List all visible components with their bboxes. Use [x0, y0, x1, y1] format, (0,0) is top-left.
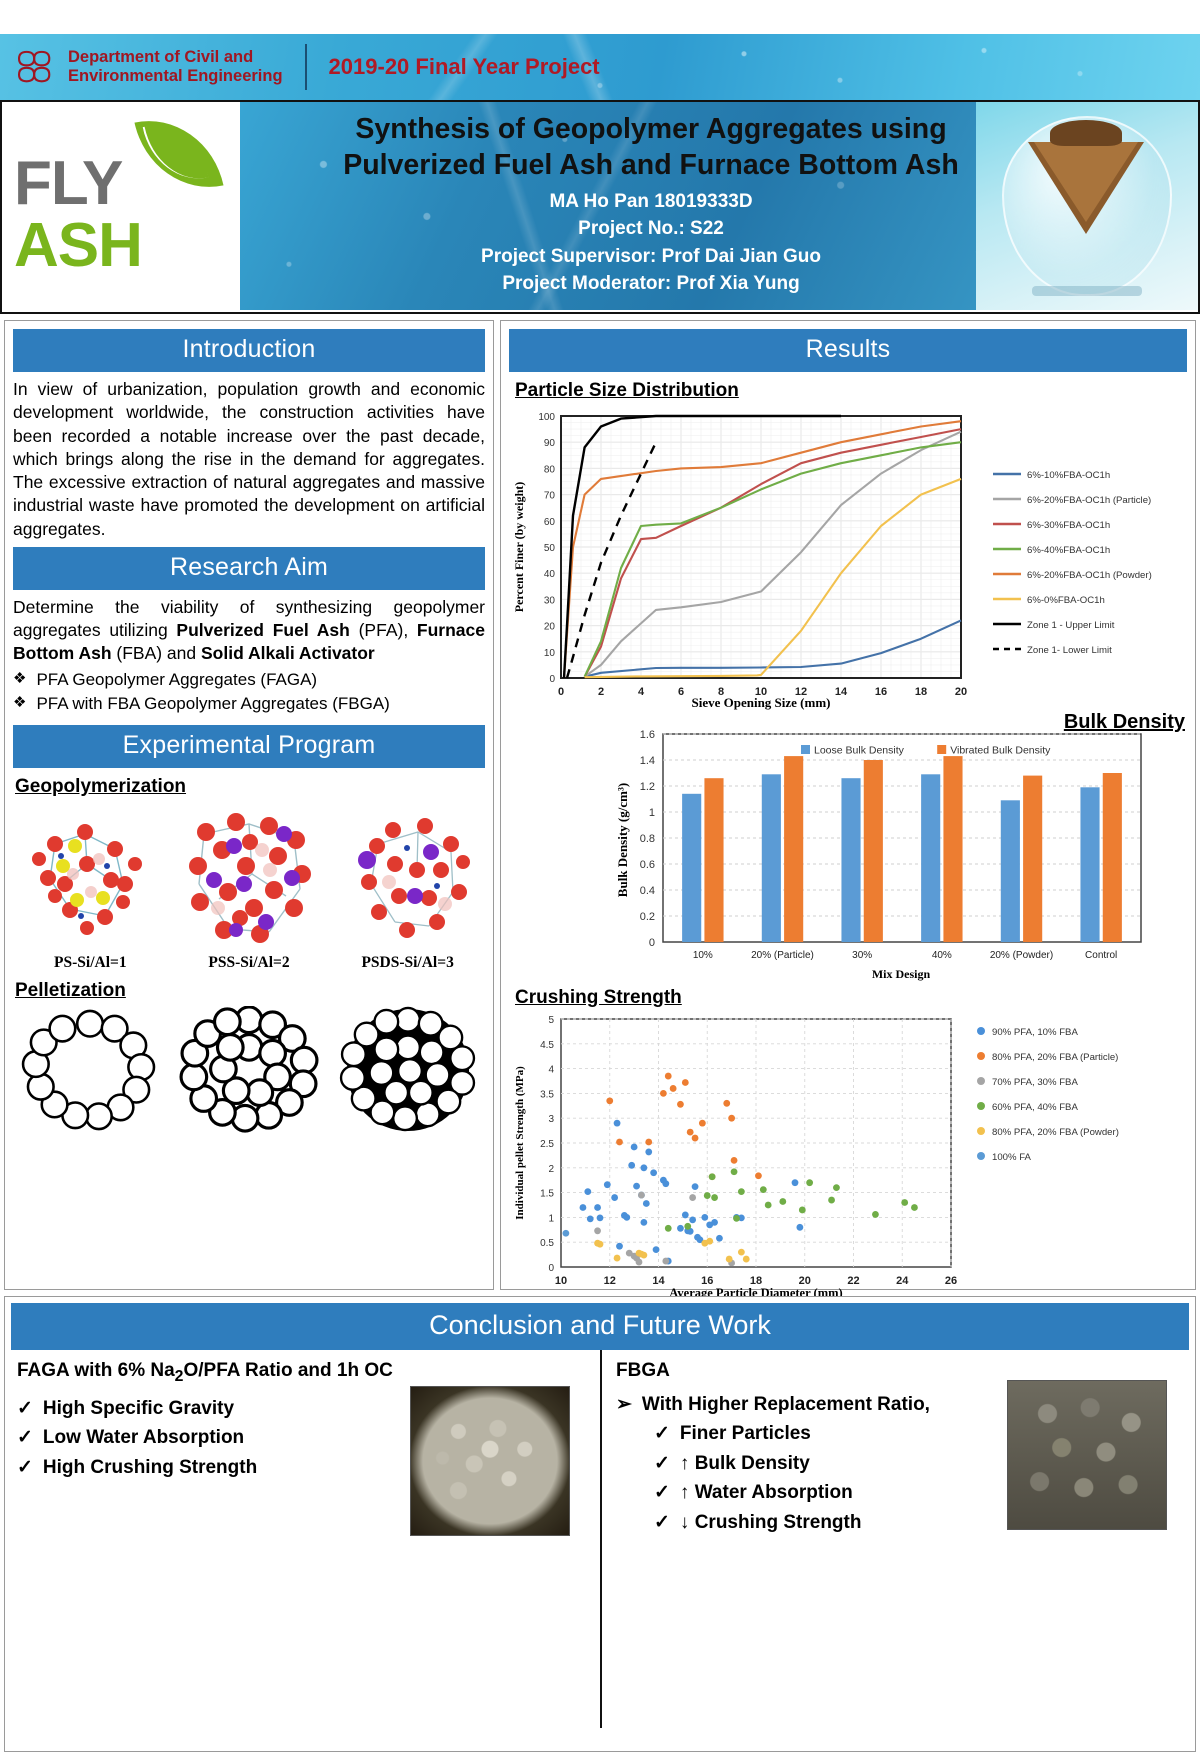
svg-text:0: 0 [649, 937, 655, 949]
pellet-ring-medium-icon [175, 1006, 323, 1134]
poster-title: Synthesis of Geopolymer Aggregates using… [220, 102, 1082, 184]
svg-text:0.6: 0.6 [640, 859, 655, 871]
molecule-images-row [5, 804, 493, 954]
subheading-geopolymerization: Geopolymerization [5, 768, 493, 798]
svg-text:Zone 1 - Upper Limit: Zone 1 - Upper Limit [1027, 620, 1115, 631]
faga-pellets-photo [410, 1386, 570, 1536]
molecule-caption-psds: PSDS-Si/Al=3 [333, 954, 483, 972]
department-name-line1: Department of Civil and [68, 48, 283, 67]
list-item: ❖ PFA Geopolymer Aggregates (FAGA) [13, 668, 485, 693]
section-header-results: Results [509, 329, 1187, 372]
hourglass-photo [976, 102, 1198, 310]
svg-text:6%-20%FBA-OC1h (Particle): 6%-20%FBA-OC1h (Particle) [1027, 495, 1151, 506]
diamond-bullet-icon: ❖ [13, 692, 26, 714]
aim-text-c: (FBA) and [112, 643, 201, 663]
fbga-lead-label: With Higher Replacement Ratio, [642, 1390, 930, 1419]
svg-text:3: 3 [548, 1114, 554, 1125]
svg-text:2: 2 [598, 686, 604, 698]
svg-text:0: 0 [548, 1263, 554, 1274]
section-header-conclusion: Conclusion and Future Work [11, 1303, 1189, 1350]
svg-text:Vibrated Bulk Density: Vibrated Bulk Density [950, 745, 1051, 757]
department-name-line2: Environmental Engineering [68, 67, 283, 86]
svg-text:0.8: 0.8 [640, 833, 655, 845]
research-aim-paragraph: Determine the viability of synthesizing … [5, 590, 493, 666]
svg-text:0: 0 [549, 674, 555, 685]
fbga-pellets-photo [1007, 1380, 1167, 1530]
faga-item-2: High Crushing Strength [43, 1453, 257, 1482]
project-supervisor: Project Supervisor: Prof Dai Jian Guo [220, 243, 1082, 271]
faga-title-pre: FAGA with 6% Na [17, 1360, 175, 1381]
svg-text:4: 4 [548, 1065, 554, 1076]
svg-text:20: 20 [544, 622, 556, 633]
chart-particle-size-distribution: 0102030405060708090100 02468101214161820… [501, 402, 1191, 720]
svg-text:70% PFA, 30% FBA: 70% PFA, 30% FBA [992, 1077, 1078, 1088]
svg-text:Individual pellet Strength (MP: Individual pellet Strength (MPa) [514, 1066, 526, 1220]
molecule-ps-icon [15, 804, 165, 954]
svg-text:Bulk Density (g/cm³): Bulk Density (g/cm³) [615, 783, 630, 897]
arrow-bullet-icon: ➢ [616, 1390, 632, 1419]
svg-text:3.5: 3.5 [540, 1089, 554, 1100]
faga-title: FAGA with 6% Na2O/PFA Ratio and 1h OC [17, 1360, 590, 1386]
molecule-caption-ps: PS-Si/Al=1 [15, 954, 165, 972]
svg-text:100% FA: 100% FA [992, 1152, 1032, 1163]
svg-text:100: 100 [538, 412, 555, 423]
chart-title-psd: Particle Size Distribution [501, 372, 1195, 402]
svg-text:40: 40 [544, 569, 556, 580]
svg-text:16: 16 [875, 686, 887, 698]
svg-text:6%-40%FBA-OC1h: 6%-40%FBA-OC1h [1027, 545, 1110, 556]
department-name: Department of Civil and Environmental En… [68, 48, 283, 87]
svg-text:Zone 1- Lower Limit: Zone 1- Lower Limit [1027, 645, 1112, 656]
svg-text:20: 20 [955, 686, 967, 698]
list-item: ❖ PFA with FBA Geopolymer Aggregates (FB… [13, 692, 485, 717]
svg-text:6%-20%FBA-OC1h (Powder): 6%-20%FBA-OC1h (Powder) [1027, 570, 1152, 581]
project-number: Project No.: S22 [220, 215, 1082, 243]
svg-text:20% (Particle): 20% (Particle) [751, 950, 814, 961]
fbga-item-0: Finer Particles [680, 1419, 811, 1448]
leaf-icon [134, 107, 223, 201]
aim-bold-activator: Solid Alkali Activator [201, 643, 375, 663]
logo-ash-text: ASH [14, 210, 142, 281]
svg-text:22: 22 [847, 1275, 859, 1287]
svg-text:2: 2 [548, 1164, 554, 1175]
svg-text:30: 30 [544, 595, 556, 606]
svg-text:60: 60 [544, 517, 556, 528]
svg-text:80% PFA, 20% FBA (Particle): 80% PFA, 20% FBA (Particle) [992, 1052, 1118, 1063]
fyp-label: 2019-20 Final Year Project [329, 54, 600, 80]
section-header-research-aim: Research Aim [13, 547, 485, 590]
svg-text:10: 10 [555, 1275, 567, 1287]
right-column: Results Particle Size Distribution 01020… [500, 320, 1196, 1290]
aim-bold-pfa: Pulverized Fuel Ash [176, 620, 349, 640]
check-icon: ✓ [17, 1394, 33, 1423]
poster-title-line2: Pulverized Fuel Ash and Furnace Bottom A… [220, 148, 1082, 184]
aim-text-b: (PFA), [350, 620, 417, 640]
chart-bulk-density: 00.20.40.60.811.21.41.6 10%20% (Particle… [501, 720, 1191, 985]
svg-text:6%-0%FBA-OC1h: 6%-0%FBA-OC1h [1027, 595, 1105, 606]
fbga-item-3: ↓ Crushing Strength [680, 1508, 862, 1537]
svg-text:6: 6 [678, 686, 684, 698]
fbga-item-2: ↑ Water Absorption [680, 1478, 853, 1507]
svg-text:14: 14 [835, 686, 848, 698]
pellet-ring-dense-icon [334, 1006, 482, 1134]
svg-text:2.5: 2.5 [540, 1139, 554, 1150]
svg-text:60% PFA, 40% FBA: 60% PFA, 40% FBA [992, 1102, 1078, 1113]
fbga-title: FBGA [616, 1360, 1185, 1382]
psd-svg: 0102030405060708090100 02468101214161820… [501, 402, 1191, 712]
faga-item-0: High Specific Gravity [43, 1394, 234, 1423]
svg-text:10%: 10% [693, 950, 713, 961]
title-banner: FLY ASH Synthesis of Geopolymer Aggregat… [0, 102, 1200, 314]
svg-text:0.5: 0.5 [540, 1238, 554, 1249]
svg-text:10: 10 [544, 648, 556, 659]
check-icon: ✓ [654, 1478, 670, 1507]
conclusion-section: Conclusion and Future Work FAGA with 6% … [4, 1296, 1196, 1752]
conclusion-body: FAGA with 6% Na2O/PFA Ratio and 1h OC ✓ … [5, 1350, 1195, 1728]
poster-title-line1: Synthesis of Geopolymer Aggregates using [220, 112, 1082, 148]
svg-text:Loose Bulk Density: Loose Bulk Density [814, 745, 905, 757]
svg-text:50: 50 [544, 543, 556, 554]
check-icon: ✓ [654, 1449, 670, 1478]
svg-text:0.4: 0.4 [640, 885, 655, 897]
svg-text:6%-30%FBA-OC1h: 6%-30%FBA-OC1h [1027, 520, 1110, 531]
subheading-pelletization: Pelletization [5, 972, 493, 1002]
svg-text:1.5: 1.5 [540, 1189, 554, 1200]
svg-text:6%-10%FBA-OC1h: 6%-10%FBA-OC1h [1027, 470, 1110, 481]
check-icon: ✓ [17, 1453, 33, 1482]
svg-text:1.4: 1.4 [640, 755, 655, 767]
svg-text:Mix Design: Mix Design [872, 967, 931, 981]
faga-title-post: O/PFA Ratio and 1h OC [183, 1360, 392, 1381]
check-icon: ✓ [654, 1508, 670, 1537]
pellet-diagrams-row [5, 1006, 493, 1134]
svg-text:18: 18 [915, 686, 927, 698]
svg-text:24: 24 [896, 1275, 909, 1287]
bullet-label-fbga: PFA with FBA Geopolymer Aggregates (FBGA… [36, 692, 389, 717]
left-column: Introduction In view of urbanization, po… [4, 320, 494, 1290]
department-header-bar: Department of Civil and Environmental En… [0, 34, 1200, 102]
molecule-pss-icon [174, 804, 324, 954]
svg-text:4: 4 [638, 686, 645, 698]
hourglass-base [1032, 286, 1142, 296]
molecule-captions-row: PS-Si/Al=1 PSS-Si/Al=2 PSDS-Si/Al=3 [5, 954, 493, 972]
diamond-bullet-icon: ❖ [13, 668, 26, 690]
section-header-experimental-program: Experimental Program [13, 725, 485, 768]
svg-text:70: 70 [544, 491, 556, 502]
svg-text:1: 1 [649, 807, 655, 819]
svg-text:20% (Powder): 20% (Powder) [990, 950, 1053, 961]
title-block: Synthesis of Geopolymer Aggregates using… [220, 102, 1082, 310]
conclusion-fbga-panel: FBGA ➢ With Higher Replacement Ratio, ✓ … [600, 1350, 1195, 1728]
svg-text:80% PFA, 20% FBA (Powder): 80% PFA, 20% FBA (Powder) [992, 1127, 1119, 1138]
check-icon: ✓ [654, 1419, 670, 1448]
svg-text:0.2: 0.2 [640, 911, 655, 923]
bulk-density-svg: 00.20.40.60.811.21.41.6 10%20% (Particle… [501, 720, 1191, 982]
svg-text:40%: 40% [932, 950, 952, 961]
svg-text:90: 90 [544, 438, 556, 449]
svg-text:30%: 30% [852, 950, 872, 961]
svg-text:80: 80 [544, 464, 556, 475]
svg-text:26: 26 [945, 1275, 957, 1287]
svg-text:0: 0 [558, 686, 564, 698]
crushing-strength-svg: 00.511.522.533.544.55 101214161820222426… [501, 1009, 1191, 1305]
hourglass-ash-cone-inner [1034, 142, 1138, 222]
bullet-label-faga: PFA Geopolymer Aggregates (FAGA) [36, 668, 317, 693]
conclusion-faga-panel: FAGA with 6% Na2O/PFA Ratio and 1h OC ✓ … [5, 1350, 600, 1728]
introduction-paragraph: In view of urbanization, population grow… [5, 372, 493, 541]
fbga-item-1: ↑ Bulk Density [680, 1449, 810, 1478]
svg-text:Control: Control [1085, 950, 1117, 961]
poster-authors: MA Ho Pan 18019333D Project No.: S22 Pro… [220, 188, 1082, 298]
polyu-logo-icon [14, 46, 56, 88]
molecule-psds-icon [333, 804, 483, 954]
check-icon: ✓ [17, 1423, 33, 1452]
logo-fly-text: FLY [14, 148, 122, 219]
hourglass-ash-pile [1050, 120, 1122, 146]
research-aim-bullets: ❖ PFA Geopolymer Aggregates (FAGA) ❖ PFA… [5, 666, 493, 717]
svg-text:5: 5 [548, 1015, 554, 1026]
svg-text:Percent Finer (by weight): Percent Finer (by weight) [512, 482, 526, 613]
svg-text:1.6: 1.6 [640, 729, 655, 741]
svg-text:1.2: 1.2 [640, 781, 655, 793]
pellet-ring-open-icon [16, 1006, 164, 1134]
project-moderator: Project Moderator: Prof Xia Yung [220, 270, 1082, 298]
flyash-logo: FLY ASH [2, 102, 240, 310]
chart-crushing-strength: 00.511.522.533.544.55 101214161820222426… [501, 1009, 1191, 1309]
svg-text:4.5: 4.5 [540, 1040, 554, 1051]
svg-text:14: 14 [652, 1275, 665, 1287]
svg-text:Sieve Opening Size (mm): Sieve Opening Size (mm) [691, 695, 830, 710]
header-divider [305, 44, 307, 90]
section-header-introduction: Introduction [13, 329, 485, 372]
author-name: MA Ho Pan 18019333D [220, 188, 1082, 216]
svg-text:1: 1 [548, 1213, 554, 1224]
svg-text:12: 12 [604, 1275, 616, 1287]
molecule-caption-pss: PSS-Si/Al=2 [174, 954, 324, 972]
faga-item-1: Low Water Absorption [43, 1423, 244, 1452]
svg-text:90% PFA, 10% FBA: 90% PFA, 10% FBA [992, 1027, 1078, 1038]
